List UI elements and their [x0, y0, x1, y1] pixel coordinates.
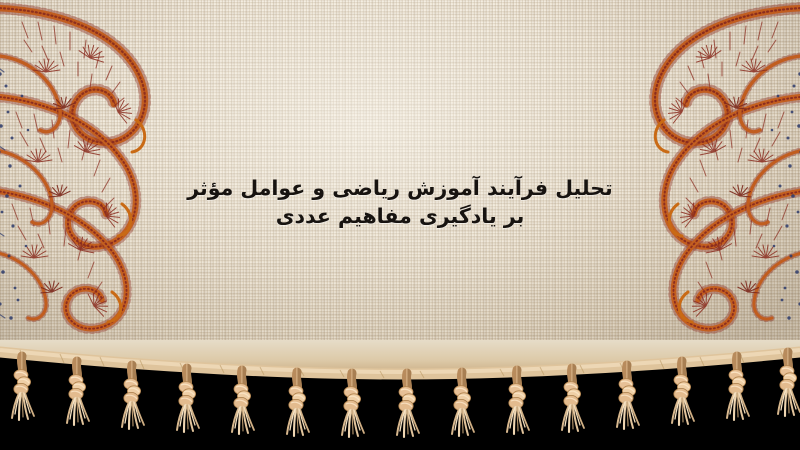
title-slide: تحلیل فرآیند آموزش ریاضی و عوامل مؤثر بر… — [0, 0, 800, 450]
title-line-2: بر یادگیری مفاهیم عددی — [0, 202, 800, 230]
title-line-1: تحلیل فرآیند آموزش ریاضی و عوامل مؤثر — [0, 174, 800, 202]
slide-title: تحلیل فرآیند آموزش ریاضی و عوامل مؤثر بر… — [0, 174, 800, 231]
knotted-tassel-fringe — [0, 340, 800, 450]
